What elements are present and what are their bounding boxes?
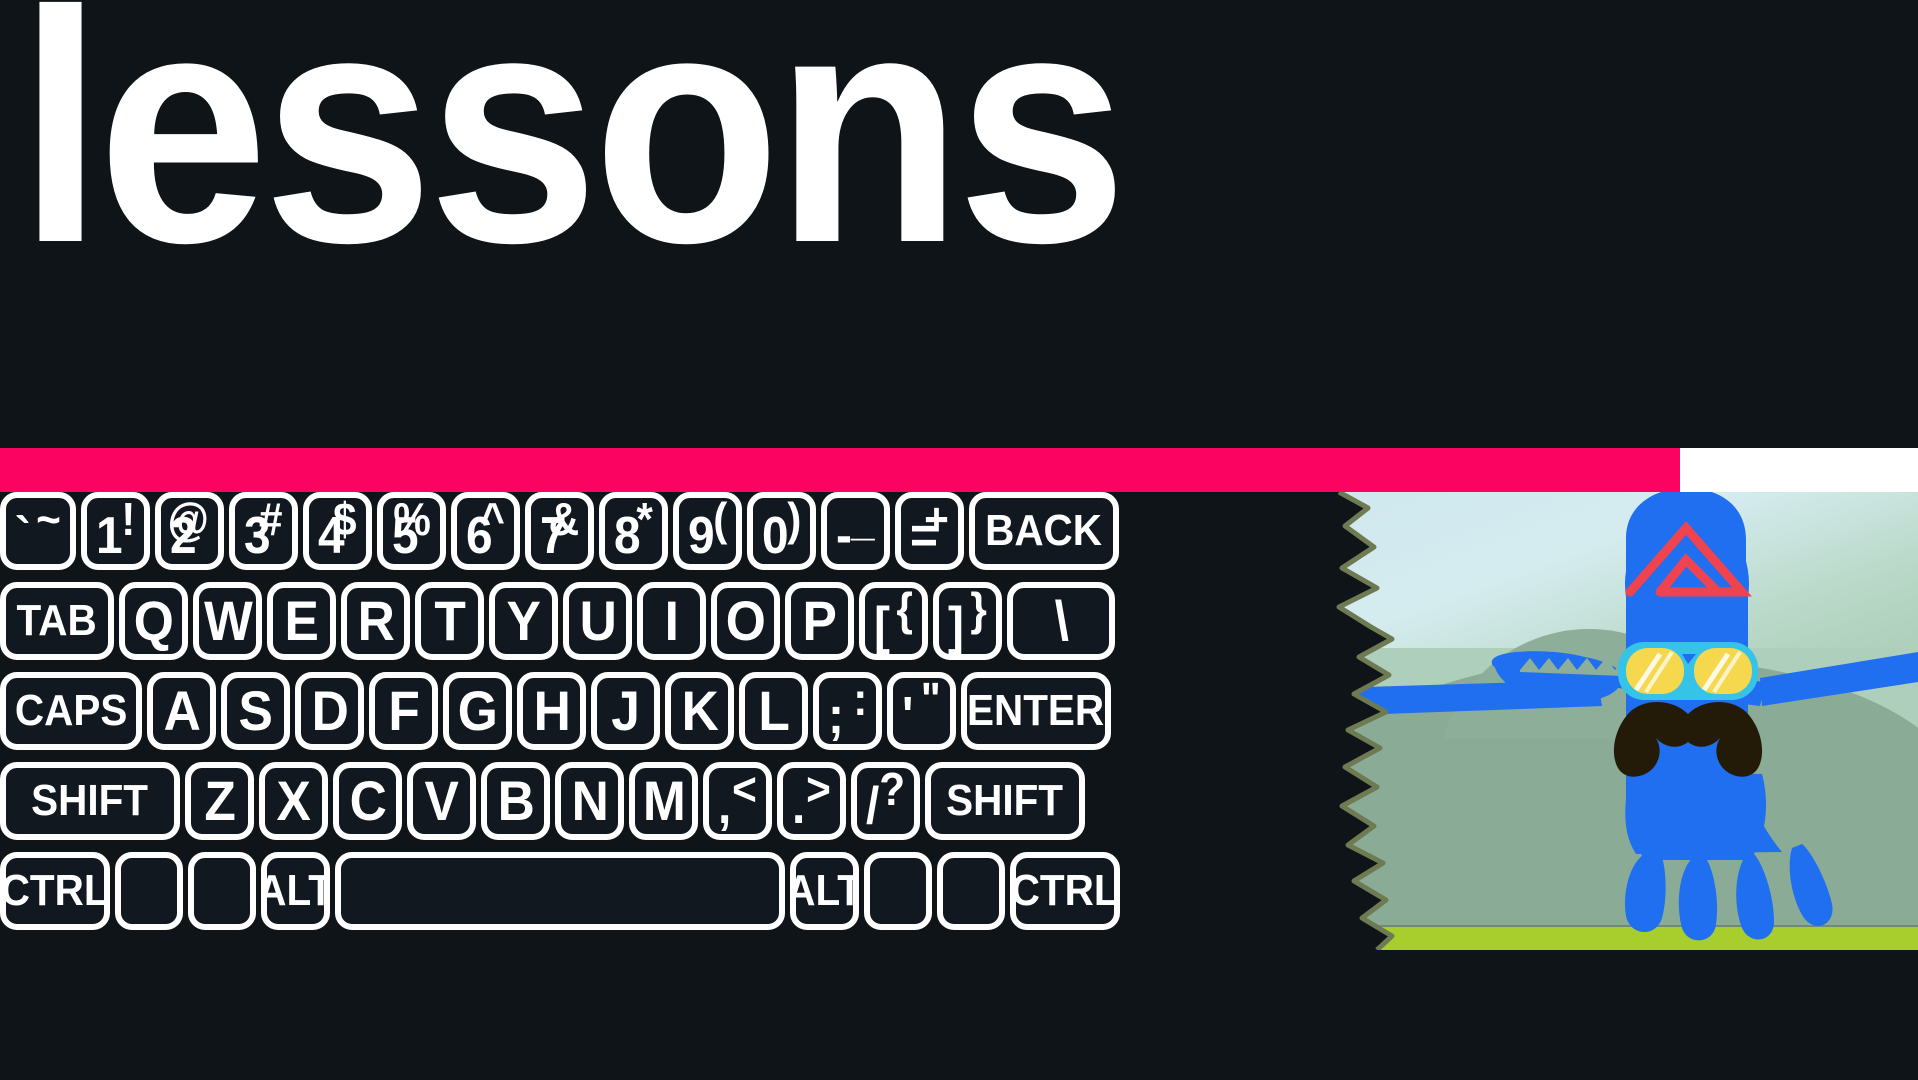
key-y-label: Y: [507, 593, 540, 649]
key-6-shift-legend: ^: [480, 496, 505, 542]
key-period-shift-legend: >: [806, 766, 831, 812]
key-bracketleft-shift-legend: {: [897, 586, 913, 632]
key-slash-primary-legend: /: [866, 780, 879, 832]
key-j[interactable]: J: [591, 672, 660, 750]
key-5-shift-legend: %: [393, 496, 431, 542]
key-semicolon[interactable]: ;:: [813, 672, 882, 750]
keyboard-row-modifier-row: CTRLALTALTCTRL: [0, 852, 1400, 940]
key-bracketright-primary-legend: ]: [948, 600, 964, 652]
key-minus-shift-legend: _: [851, 496, 875, 542]
key-y[interactable]: Y: [489, 582, 558, 660]
key-d[interactable]: D: [295, 672, 364, 750]
key-z-label: Z: [204, 773, 235, 829]
key-s[interactable]: S: [221, 672, 290, 750]
key-n-label: N: [571, 773, 607, 829]
key-o-label: O: [726, 593, 765, 649]
key-fn-left[interactable]: [188, 852, 256, 930]
key-alt-right[interactable]: ALT: [790, 852, 859, 930]
photo-bottom-mask: [1330, 950, 1918, 1080]
key-1-shift-legend: !: [121, 496, 135, 542]
key-s-label: S: [239, 683, 272, 739]
key-slash[interactable]: /?: [851, 762, 920, 840]
key-f[interactable]: F: [369, 672, 438, 750]
key-u[interactable]: U: [563, 582, 632, 660]
key-a-label: A: [163, 683, 199, 739]
key-b[interactable]: B: [481, 762, 550, 840]
key-enter-label: ENTER: [967, 689, 1104, 733]
key-equals-shift-legend: +: [924, 496, 949, 542]
key-f-label: F: [388, 683, 419, 739]
key-t[interactable]: T: [415, 582, 484, 660]
key-backspace[interactable]: BACK: [969, 492, 1119, 570]
key-r-label: R: [357, 593, 393, 649]
key-w[interactable]: W: [193, 582, 262, 660]
key-x[interactable]: X: [259, 762, 328, 840]
key-b-label: B: [497, 773, 533, 829]
key-shift-left[interactable]: SHIFT: [0, 762, 180, 840]
key-1[interactable]: 1!: [81, 492, 150, 570]
key-p-label: P: [803, 593, 836, 649]
key-shift-right[interactable]: SHIFT: [925, 762, 1085, 840]
key-capslock[interactable]: CAPS: [0, 672, 142, 750]
key-v[interactable]: V: [407, 762, 476, 840]
key-alt-left[interactable]: ALT: [261, 852, 330, 930]
key-semicolon-shift-legend: :: [853, 676, 867, 722]
key-period[interactable]: .>: [777, 762, 846, 840]
qwerty-keyboard-diagram: `~1!2@3#4$5%6^7&8*9(0)-_=+BACKTABQWERTYU…: [0, 492, 1400, 942]
key-ctrl-right[interactable]: CTRL: [1010, 852, 1120, 930]
key-3-shift-legend: #: [259, 496, 283, 542]
key-slash-shift-legend: ?: [879, 766, 905, 812]
key-m[interactable]: M: [629, 762, 698, 840]
keyboard-row-home-letter-row: CAPSASDFGHJKL;:'"ENTER: [0, 672, 1400, 760]
key-tab-label: TAB: [17, 599, 97, 643]
key-r[interactable]: R: [341, 582, 410, 660]
accent-rule-pink: [0, 448, 1680, 492]
key-i-label: I: [665, 593, 678, 649]
key-k-label: K: [681, 683, 717, 739]
key-t-label: T: [434, 593, 465, 649]
key-enter[interactable]: ENTER: [961, 672, 1111, 750]
key-comma-shift-legend: <: [732, 766, 757, 812]
key-e-label: E: [285, 593, 318, 649]
key-meta-right[interactable]: [864, 852, 932, 930]
accent-rule-white: [1680, 448, 1918, 492]
key-minus[interactable]: -_: [821, 492, 890, 570]
key-5[interactable]: 5%: [377, 492, 446, 570]
key-n[interactable]: N: [555, 762, 624, 840]
key-a[interactable]: A: [147, 672, 216, 750]
key-ctrl-left-label: CTRL: [1, 869, 109, 913]
key-comma-primary-legend: ,: [718, 780, 731, 832]
key-bracketleft[interactable]: [{: [859, 582, 928, 660]
key-bracketright[interactable]: ]}: [933, 582, 1002, 660]
key-0[interactable]: 0): [747, 492, 816, 570]
key-i[interactable]: I: [637, 582, 706, 660]
key-backquote[interactable]: `~: [0, 492, 76, 570]
key-q[interactable]: Q: [119, 582, 188, 660]
key-c[interactable]: C: [333, 762, 402, 840]
key-9[interactable]: 9(: [673, 492, 742, 570]
key-shift-left-label: SHIFT: [32, 779, 149, 823]
key-8[interactable]: 8*: [599, 492, 668, 570]
accent-rule-band: [0, 448, 1918, 492]
page-title: lessons: [18, 0, 1122, 292]
key-e[interactable]: E: [267, 582, 336, 660]
key-x-label: X: [277, 773, 310, 829]
key-z[interactable]: Z: [185, 762, 254, 840]
key-backquote-primary-legend: `: [15, 510, 31, 562]
key-l[interactable]: L: [739, 672, 808, 750]
key-period-primary-legend: .: [792, 780, 805, 832]
key-3[interactable]: 3#: [229, 492, 298, 570]
key-h[interactable]: H: [517, 672, 586, 750]
key-u-label: U: [579, 593, 615, 649]
key-minus-primary-legend: -: [836, 510, 852, 562]
key-comma[interactable]: ,<: [703, 762, 772, 840]
key-2-shift-legend: @: [168, 496, 209, 542]
key-v-label: V: [425, 773, 458, 829]
key-g[interactable]: G: [443, 672, 512, 750]
key-2[interactable]: 2@: [155, 492, 224, 570]
key-apostrophe-shift-legend: ": [921, 676, 941, 722]
key-apostrophe-primary-legend: ': [902, 690, 913, 742]
key-backslash[interactable]: \: [1007, 582, 1115, 660]
right-arm: [1760, 652, 1918, 706]
content-stage: `~1!2@3#4$5%6^7&8*9(0)-_=+BACKTABQWERTYU…: [0, 492, 1918, 1080]
key-7-shift-legend: &: [548, 496, 579, 542]
key-backslash-label: \: [1054, 593, 1067, 649]
key-0-shift-legend: ): [787, 496, 801, 542]
keyboard-row-bottom-letter-row: SHIFTZXCVBNM,<.>/?SHIFT: [0, 762, 1400, 850]
sunglasses-icon: [1618, 642, 1758, 700]
key-backquote-shift-legend: ~: [36, 496, 61, 542]
key-space[interactable]: [335, 852, 785, 930]
key-j-label: J: [612, 683, 640, 739]
octopus-mascot: [1330, 492, 1918, 950]
key-equals[interactable]: =+: [895, 492, 964, 570]
key-menu-right[interactable]: [937, 852, 1005, 930]
key-h-label: H: [533, 683, 569, 739]
key-o[interactable]: O: [711, 582, 780, 660]
key-alt-right-label: ALT: [790, 869, 859, 913]
key-apostrophe[interactable]: '": [887, 672, 956, 750]
torn-photo-panel: [1330, 492, 1918, 950]
key-w-label: W: [204, 593, 252, 649]
key-meta-left[interactable]: [115, 852, 183, 930]
key-8-shift-legend: *: [637, 496, 653, 542]
photo-clip: [1330, 492, 1918, 950]
key-m-label: M: [642, 773, 684, 829]
key-q-label: Q: [134, 593, 173, 649]
key-p[interactable]: P: [785, 582, 854, 660]
key-bracketleft-primary-legend: [: [874, 600, 890, 652]
key-semicolon-primary-legend: ;: [828, 690, 844, 742]
key-4[interactable]: 4$: [303, 492, 372, 570]
key-9-primary-legend: 9: [688, 510, 715, 562]
hero-section: lessons: [0, 0, 1918, 448]
key-0-primary-legend: 0: [762, 510, 789, 562]
key-tab[interactable]: TAB: [0, 582, 114, 660]
key-bracketright-shift-legend: }: [971, 586, 987, 632]
keyboard-row-top-letter-row: TABQWERTYUIOP[{]}\: [0, 582, 1400, 670]
key-alt-left-label: ALT: [261, 869, 330, 913]
key-1-primary-legend: 1: [96, 510, 123, 562]
keyboard-row-number-row: `~1!2@3#4$5%6^7&8*9(0)-_=+BACK: [0, 492, 1400, 580]
key-6[interactable]: 6^: [451, 492, 520, 570]
key-capslock-label: CAPS: [15, 689, 127, 733]
key-c-label: C: [349, 773, 385, 829]
key-ctrl-right-label: CTRL: [1011, 869, 1119, 913]
key-l-label: L: [758, 683, 789, 739]
key-9-shift-legend: (: [713, 496, 727, 542]
key-d-label: D: [311, 683, 347, 739]
key-7[interactable]: 7&: [525, 492, 594, 570]
key-g-label: G: [458, 683, 497, 739]
key-k[interactable]: K: [665, 672, 734, 750]
key-ctrl-left[interactable]: CTRL: [0, 852, 110, 930]
left-arm: [1330, 680, 1602, 716]
key-backspace-label: BACK: [986, 509, 1103, 553]
key-shift-right-label: SHIFT: [947, 779, 1064, 823]
key-4-shift-legend: $: [333, 496, 357, 542]
